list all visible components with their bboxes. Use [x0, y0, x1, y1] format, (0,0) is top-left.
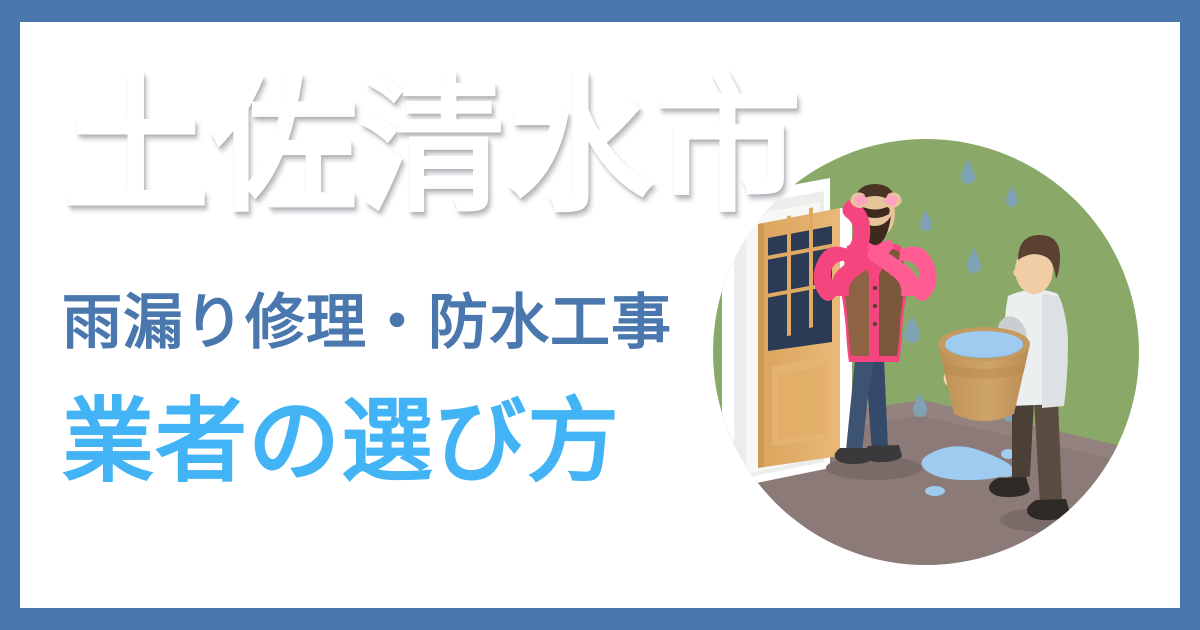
border-left [0, 0, 20, 630]
tagline: 業者の選び方 [62, 394, 620, 491]
banner-card: 土佐清水市 雨漏り修理・防水工事 業者の選び方 [0, 0, 1200, 630]
subtitle: 雨漏り修理・防水工事 [62, 292, 672, 355]
headline-block: 土佐清水市 雨漏り修理・防水工事 業者の選び方 [0, 0, 760, 630]
page-title: 土佐清水市 [62, 72, 802, 223]
border-right [1180, 0, 1200, 630]
border-top [0, 0, 1200, 22]
border-bottom [0, 608, 1200, 630]
